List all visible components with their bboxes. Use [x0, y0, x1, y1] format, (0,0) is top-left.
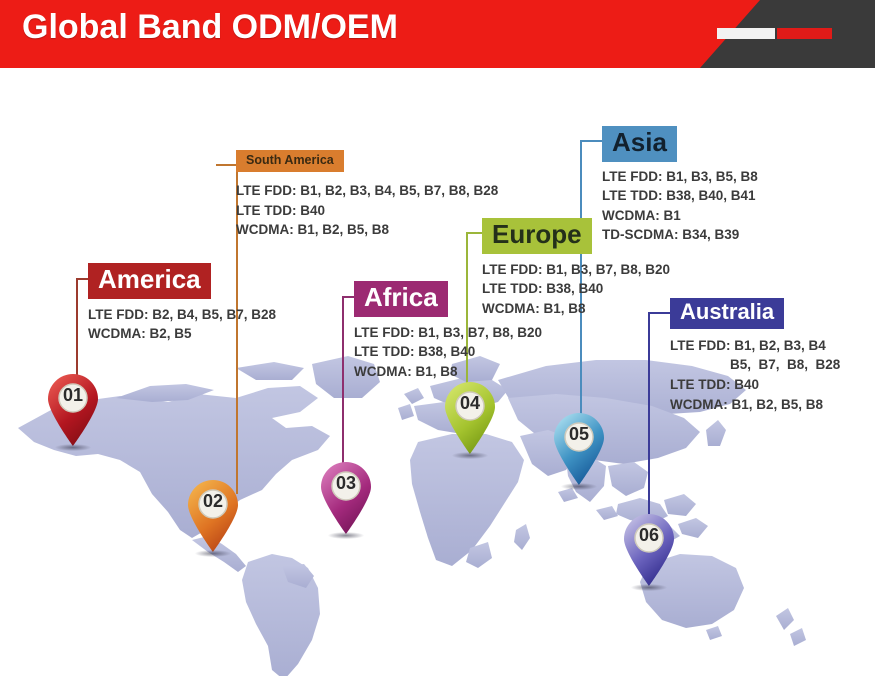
map-pin-01-shadow: [55, 444, 91, 451]
map-pin-01[interactable]: 01: [45, 372, 101, 448]
region-bands-america: LTE FDD: B2, B4, B5, B7, B28 WCDMA: B2, …: [88, 305, 276, 344]
map-pin-04-number: 04: [442, 393, 498, 414]
connector-asia-horizontal: [580, 140, 604, 142]
band-row: LTE TDD: B38, B40, B41: [602, 186, 758, 206]
map-pin-05-number: 05: [551, 424, 607, 445]
band-row: WCDMA: B1, B2, B5, B8: [236, 220, 498, 240]
region-bands-africa: LTE FDD: B1, B3, B7, B8, B20 LTE TDD: B3…: [354, 323, 542, 382]
band-row: WCDMA: B2, B5: [88, 324, 276, 344]
region-asia: Asia LTE FDD: B1, B3, B5, B8 LTE TDD: B3…: [602, 126, 758, 245]
band-row: TD-SCDMA: B34, B39: [602, 225, 758, 245]
band-row: LTE FDD: B1, B2, B3, B4, B5, B7, B8, B28: [236, 181, 498, 201]
map-pin-01-number: 01: [45, 385, 101, 406]
map-pin-06-number: 06: [621, 525, 677, 546]
band-row: LTE TDD: B38, B40: [354, 342, 542, 362]
region-bands-asia: LTE FDD: B1, B3, B5, B8 LTE TDD: B38, B4…: [602, 167, 758, 245]
map-pin-04[interactable]: 04: [442, 380, 498, 456]
header-accent-bars: [717, 28, 832, 39]
region-label-america: America: [88, 263, 211, 299]
band-row: LTE TDD: B40: [236, 201, 498, 221]
region-south-america: South America LTE FDD: B1, B2, B3, B4, B…: [236, 150, 498, 240]
band-row: WCDMA: B1: [602, 206, 758, 226]
band-row: LTE FDD: B1, B3, B5, B8: [602, 167, 758, 187]
map-pin-02-number: 02: [185, 491, 241, 512]
band-row: WCDMA: B1, B8: [482, 299, 670, 319]
header-bar-white-icon: [717, 28, 775, 39]
page-title: Global Band ODM/OEM: [22, 8, 398, 47]
map-pin-02[interactable]: 02: [185, 478, 241, 554]
region-label-south-america: South America: [236, 150, 344, 172]
region-label-asia: Asia: [602, 126, 677, 162]
band-row: LTE FDD: B1, B2, B3, B4: [670, 336, 840, 356]
map-pin-06[interactable]: 06: [621, 512, 677, 588]
region-australia: Australia LTE FDD: B1, B2, B3, B4 B5, B7…: [670, 298, 840, 414]
connector-south-america-horizontal: [216, 164, 238, 166]
region-label-europe: Europe: [482, 218, 592, 254]
map-pin-05[interactable]: 05: [551, 411, 607, 487]
map-pin-05-shadow: [561, 483, 597, 490]
map-pin-02-shadow: [195, 550, 231, 557]
map-pin-03-number: 03: [318, 473, 374, 494]
region-bands-australia: LTE FDD: B1, B2, B3, B4 B5, B7, B8, B28 …: [670, 336, 840, 414]
map-pin-03[interactable]: 03: [318, 460, 374, 536]
connector-australia: [648, 312, 672, 530]
map-pin-03-shadow: [328, 532, 364, 539]
band-row: LTE TDD: B38, B40: [482, 279, 670, 299]
slide-root: Global Band ODM/OEM: [0, 0, 875, 676]
header-bar-red-icon: [777, 28, 832, 39]
region-label-australia: Australia: [670, 298, 784, 329]
region-bands-europe: LTE FDD: B1, B3, B7, B8, B20 LTE TDD: B3…: [482, 260, 670, 319]
map-pin-04-shadow: [452, 452, 488, 459]
connector-africa-vertical: [342, 296, 344, 472]
region-bands-south-america: LTE FDD: B1, B2, B3, B4, B5, B7, B8, B28…: [236, 181, 498, 240]
region-label-africa: Africa: [354, 281, 448, 317]
band-row: WCDMA: B1, B8: [354, 362, 542, 382]
band-row: LTE TDD: B40: [670, 375, 840, 395]
band-row: LTE FDD: B1, B3, B7, B8, B20: [482, 260, 670, 280]
region-america: America LTE FDD: B2, B4, B5, B7, B28 WCD…: [88, 263, 276, 344]
connector-australia-vertical: [648, 312, 650, 530]
band-row: WCDMA: B1, B2, B5, B8: [670, 395, 840, 415]
band-row: LTE FDD: B1, B3, B7, B8, B20: [354, 323, 542, 343]
map-pin-06-shadow: [631, 584, 667, 591]
header-bar: Global Band ODM/OEM: [0, 0, 875, 68]
band-row: B5, B7, B8, B28: [670, 355, 840, 375]
band-row: LTE FDD: B2, B4, B5, B7, B28: [88, 305, 276, 325]
